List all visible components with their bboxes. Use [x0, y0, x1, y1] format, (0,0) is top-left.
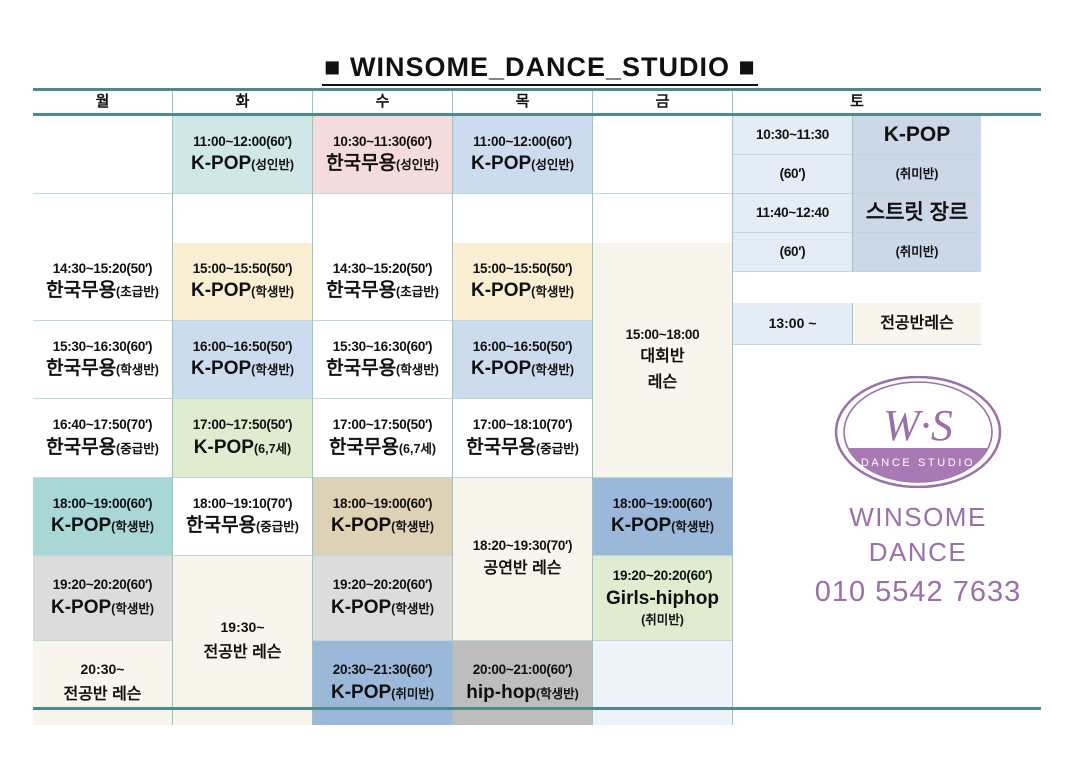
cell-wed-r3[interactable]: 15:30~16:30(60′) 한국무용(학생반) — [313, 321, 452, 399]
column-mon: 14:30~15:20(50′) 한국무용(초급반) 15:30~16:30(6… — [33, 116, 173, 725]
cell-time: 19:20~20:20(60′) — [613, 566, 712, 586]
cell-class: K-POP(학생반) — [331, 595, 434, 621]
cell-level: (취미반) — [896, 165, 939, 184]
table-bottom-border — [33, 707, 1041, 710]
cell-class: K-POP(학생반) — [51, 595, 154, 621]
sat-slot-1[interactable]: 10:30~11:30 K-POP — [733, 116, 981, 155]
cell-class: K-POP(6,7세) — [194, 435, 291, 461]
header-fri: 금 — [593, 91, 733, 113]
page-title: ■ WINSOME_DANCE_STUDIO ■ — [322, 52, 758, 86]
cell-class: 한국무용(초급반) — [46, 278, 159, 304]
sat-level-1: (취미반) — [853, 155, 981, 194]
cell-time: 15:30~16:30(60′) — [333, 337, 432, 357]
cell-thu-r7[interactable]: 20:00~21:00(60′) hip-hop(학생반) — [453, 641, 592, 725]
cell-mon-r2[interactable]: 14:30~15:20(50′) 한국무용(초급반) — [33, 243, 172, 321]
cell-time: 16:40~17:50(70′) — [53, 415, 152, 435]
cell-time: 15:00~15:50(50′) — [473, 259, 572, 279]
ws-logo-icon: W·S DANCE STUDIO — [833, 376, 1003, 488]
cell-time: 18:00~19:00(60′) — [53, 494, 152, 514]
cell-tue-r5[interactable]: 18:00~19:10(70′) 한국무용(중급반) — [173, 478, 312, 556]
cell-mon-r4[interactable]: 16:40~17:50(70′) 한국무용(중급반) — [33, 399, 172, 478]
sat-afternoon-time: 13:00 ~ — [733, 303, 853, 345]
cell-time: 20:30~21:30(60′) — [333, 660, 432, 680]
cell-time: 10:30~11:30(60′) — [333, 132, 432, 152]
cell-tue-r1[interactable]: 11:00~12:00(60′) K-POP(성인반) — [173, 116, 312, 194]
cell-class: K-POP(학생반) — [471, 356, 574, 382]
cell-time: 13:00 ~ — [769, 312, 817, 336]
cell-level: (취미반) — [641, 611, 684, 630]
cell-thu-gap — [453, 194, 592, 243]
column-thu: 11:00~12:00(60′) K-POP(성인반) 15:00~15:50(… — [453, 116, 593, 725]
cell-class: K-POP(학생반) — [51, 513, 154, 539]
cell-tue-gap — [173, 194, 312, 243]
cell-time: 18:00~19:00(60′) — [333, 494, 432, 514]
cell-fri-gap — [593, 194, 732, 243]
cell-class: K-POP(취미반) — [331, 680, 434, 706]
cell-wed-r5[interactable]: 18:00~19:00(60′) K-POP(학생반) — [313, 478, 452, 556]
cell-time: 11:00~12:00(60′) — [193, 132, 292, 152]
column-tue: 11:00~12:00(60′) K-POP(성인반) 15:00~15:50(… — [173, 116, 313, 725]
cell-time: 19:30~ — [221, 616, 265, 640]
cell-time: 16:00~16:50(50′) — [193, 337, 292, 357]
cell-time: 15:00~15:50(50′) — [193, 259, 292, 279]
cell-tue-r3[interactable]: 16:00~16:50(50′) K-POP(학생반) — [173, 321, 312, 399]
cell-tue-r2[interactable]: 15:00~15:50(50′) K-POP(학생반) — [173, 243, 312, 321]
cell-thu-r4[interactable]: 17:00~18:10(70′) 한국무용(중급반) — [453, 399, 592, 478]
cell-wed-r2[interactable]: 14:30~15:20(50′) 한국무용(초급반) — [313, 243, 452, 321]
cell-fri-r5[interactable]: 18:00~19:00(60′) K-POP(학생반) — [593, 478, 732, 556]
sat-time-2: 11:40~12:40 — [733, 194, 853, 233]
page-title-container: ■ WINSOME_DANCE_STUDIO ■ — [0, 52, 1080, 86]
cell-class: K-POP — [884, 121, 951, 149]
cell-fri-r6[interactable]: 19:20~20:20(60′) Girls-hiphop (취미반) — [593, 556, 732, 641]
cell-fri-afternoon-merged[interactable]: 15:00~18:00 대회반 레슨 — [593, 243, 732, 478]
sat-time-1: 10:30~11:30 — [733, 116, 853, 155]
cell-class: K-POP(성인반) — [191, 151, 294, 177]
cell-thu-r2[interactable]: 15:00~15:50(50′) K-POP(학생반) — [453, 243, 592, 321]
cell-time: 17:00~17:50(50′) — [193, 415, 292, 435]
cell-wed-r7[interactable]: 20:30~21:30(60′) K-POP(취미반) — [313, 641, 452, 725]
sat-afternoon[interactable]: 13:00 ~ 전공반레슨 — [733, 303, 981, 345]
cell-mon-r7[interactable]: 20:30~ 전공반 레슨 — [33, 641, 172, 725]
cell-class: 한국무용(초급반) — [326, 278, 439, 304]
cell-class: K-POP(학생반) — [611, 513, 714, 539]
cell-class: 한국무용(중급반) — [466, 435, 579, 461]
sat-slot-1b[interactable]: (60′) (취미반) — [733, 155, 981, 194]
sat-level-2: (취미반) — [853, 233, 981, 272]
brand-name: WINSOME DANCE — [849, 500, 987, 570]
cell-time: 17:00~17:50(50′) — [333, 415, 432, 435]
column-wed: 10:30~11:30(60′) 한국무용(성인반) 14:30~15:20(5… — [313, 116, 453, 725]
cell-time: 20:00~21:00(60′) — [473, 660, 572, 680]
column-fri: 15:00~18:00 대회반 레슨 18:00~19:00(60′) K-PO… — [593, 116, 733, 725]
cell-time: 15:00~18:00 — [626, 325, 700, 345]
cell-class: K-POP(학생반) — [191, 278, 294, 304]
cell-time: 10:30~11:30 — [756, 125, 829, 145]
cell-class: K-POP(학생반) — [191, 356, 294, 382]
cell-time: 15:30~16:30(60′) — [53, 337, 152, 357]
cell-mon-r5[interactable]: 18:00~19:00(60′) K-POP(학생반) — [33, 478, 172, 556]
cell-class: K-POP(학생반) — [471, 278, 574, 304]
cell-time: 16:00~16:50(50′) — [473, 337, 572, 357]
header-tue: 화 — [173, 91, 313, 113]
cell-mon-r6[interactable]: 19:20~20:20(60′) K-POP(학생반) — [33, 556, 172, 641]
cell-class-line1: 대회반 — [640, 344, 684, 370]
brand-line-1: WINSOME — [849, 500, 987, 535]
cell-fri-r1 — [593, 116, 732, 194]
cell-class: 한국무용(6,7세) — [329, 435, 436, 461]
cell-time: 18:20~19:30(70′) — [473, 536, 572, 556]
brand-line-2: DANCE — [849, 535, 987, 570]
svg-text:W·S: W·S — [883, 401, 953, 450]
header-sat: 토 — [733, 91, 981, 113]
cell-class: 공연반 레슨 — [483, 556, 561, 582]
schedule-page: ■ WINSOME_DANCE_STUDIO ■ 월 화 수 목 금 토 14:… — [0, 0, 1080, 764]
cell-time: 19:20~20:20(60′) — [53, 575, 152, 595]
cell-time: 14:30~15:20(50′) — [333, 259, 432, 279]
cell-thu-r1[interactable]: 11:00~12:00(60′) K-POP(성인반) — [453, 116, 592, 194]
cell-level: (취미반) — [896, 243, 939, 262]
sat-afternoon-class: 전공반레슨 — [853, 303, 981, 345]
cell-time: 11:40~12:40 — [756, 203, 829, 223]
header-mon: 월 — [33, 91, 173, 113]
cell-class: 한국무용(학생반) — [326, 356, 439, 382]
cell-class: 한국무용(중급반) — [46, 435, 159, 461]
cell-mon-r3[interactable]: 15:30~16:30(60′) 한국무용(학생반) — [33, 321, 172, 399]
cell-class: hip-hop(학생반) — [466, 680, 578, 706]
phone-number: 010 5542 7633 — [815, 576, 1022, 609]
header-wed: 수 — [313, 91, 453, 113]
sat-class-2: 스트릿 장르 — [853, 194, 981, 233]
cell-class: 전공반 레슨 — [63, 682, 141, 708]
cell-class: K-POP(성인반) — [471, 151, 574, 177]
svg-text:DANCE STUDIO: DANCE STUDIO — [861, 457, 975, 469]
cell-time: 18:00~19:10(70′) — [193, 494, 292, 514]
sat-gap — [733, 272, 981, 303]
cell-wed-r4[interactable]: 17:00~17:50(50′) 한국무용(6,7세) — [313, 399, 452, 478]
cell-class: 한국무용(학생반) — [46, 356, 159, 382]
cell-thu-evening-merged[interactable]: 18:20~19:30(70′) 공연반 레슨 — [453, 478, 592, 641]
sat-class-1: K-POP — [853, 116, 981, 155]
cell-wed-r1[interactable]: 10:30~11:30(60′) 한국무용(성인반) — [313, 116, 452, 194]
cell-mon-gap — [33, 194, 172, 243]
cell-class-line2: 레슨 — [648, 370, 677, 396]
cell-class: 전공반 레슨 — [203, 640, 281, 666]
sat-time-1b: (60′) — [733, 155, 853, 194]
cell-time: 19:20~20:20(60′) — [333, 575, 432, 595]
cell-class: 한국무용(성인반) — [326, 151, 439, 177]
header-thu: 목 — [453, 91, 593, 113]
cell-tue-r4[interactable]: 17:00~17:50(50′) K-POP(6,7세) — [173, 399, 312, 478]
table-header-row: 월 화 수 목 금 토 — [33, 88, 1041, 116]
cell-fri-r7 — [593, 641, 732, 725]
cell-time: 18:00~19:00(60′) — [613, 494, 712, 514]
cell-class: 한국무용(중급반) — [186, 513, 299, 539]
studio-branding: W·S DANCE STUDIO WINSOME DANCE 010 5542 … — [795, 372, 1041, 702]
cell-mon-r1 — [33, 116, 172, 194]
sat-slot-2b[interactable]: (60′) (취미반) — [733, 233, 981, 272]
cell-time: 14:30~15:20(50′) — [53, 259, 152, 279]
cell-wed-r6[interactable]: 19:20~20:20(60′) K-POP(학생반) — [313, 556, 452, 641]
sat-time-2b: (60′) — [733, 233, 853, 272]
cell-time-2: (60′) — [780, 242, 806, 262]
cell-time: 20:30~ — [81, 658, 125, 682]
cell-thu-r3[interactable]: 16:00~16:50(50′) K-POP(학생반) — [453, 321, 592, 399]
cell-tue-evening-merged[interactable]: 19:30~ 전공반 레슨 — [173, 556, 312, 725]
cell-wed-gap — [313, 194, 452, 243]
cell-class: Girls-hiphop — [606, 586, 719, 612]
cell-class: 스트릿 장르 — [866, 199, 968, 227]
cell-class: K-POP(학생반) — [331, 513, 434, 539]
cell-class: 전공반레슨 — [880, 311, 954, 337]
cell-time: 17:00~18:10(70′) — [473, 415, 572, 435]
sat-slot-2[interactable]: 11:40~12:40 스트릿 장르 — [733, 194, 981, 233]
cell-time: 11:00~12:00(60′) — [473, 132, 572, 152]
cell-time-2: (60′) — [780, 164, 806, 184]
